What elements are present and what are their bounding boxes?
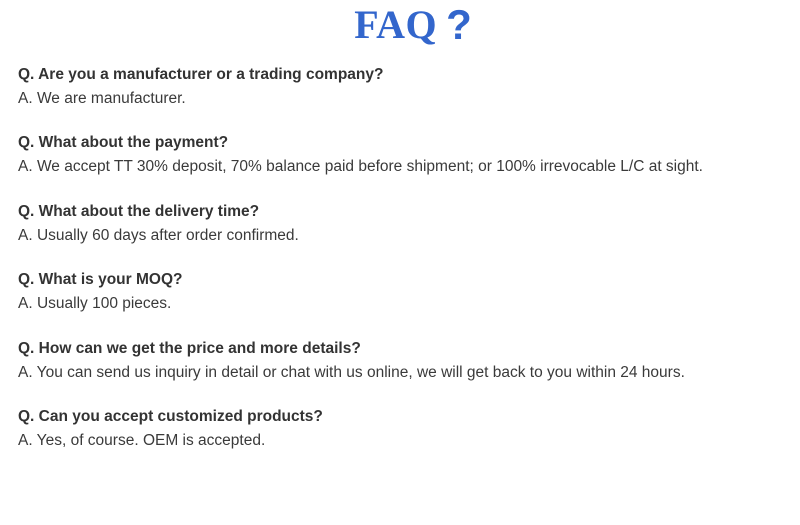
question-mark-icon: ? (446, 1, 472, 48)
faq-answer: A. Usually 100 pieces. (18, 293, 792, 315)
faq-item: Q. Can you accept customized products? A… (18, 406, 792, 452)
faq-question: Q. Are you a manufacturer or a trading c… (18, 64, 792, 86)
faq-question: Q. What is your MOQ? (18, 269, 792, 291)
faq-answer: A. You can send us inquiry in detail or … (18, 362, 792, 384)
faq-page: FAQ? Q. Are you a manufacturer or a trad… (0, 0, 800, 525)
faq-answer: A. Yes, of course. OEM is accepted. (18, 430, 792, 452)
faq-item: Q. Are you a manufacturer or a trading c… (18, 64, 792, 110)
faq-answer: A. Usually 60 days after order confirmed… (18, 225, 792, 247)
faq-item: Q. What is your MOQ? A. Usually 100 piec… (18, 269, 792, 315)
page-title-text: FAQ (354, 2, 437, 47)
faq-list: Q. Are you a manufacturer or a trading c… (18, 64, 792, 453)
faq-answer: A. We accept TT 30% deposit, 70% balance… (18, 156, 792, 178)
faq-item: Q. What about the delivery time? A. Usua… (18, 201, 792, 247)
faq-question: Q. What about the delivery time? (18, 201, 792, 223)
faq-question: Q. Can you accept customized products? (18, 406, 792, 428)
page-title: FAQ? (0, 0, 800, 46)
faq-question: Q. What about the payment? (18, 132, 792, 154)
faq-answer: A. We are manufacturer. (18, 88, 792, 110)
faq-item: Q. What about the payment? A. We accept … (18, 132, 792, 178)
faq-question: Q. How can we get the price and more det… (18, 338, 792, 360)
faq-item: Q. How can we get the price and more det… (18, 338, 792, 384)
